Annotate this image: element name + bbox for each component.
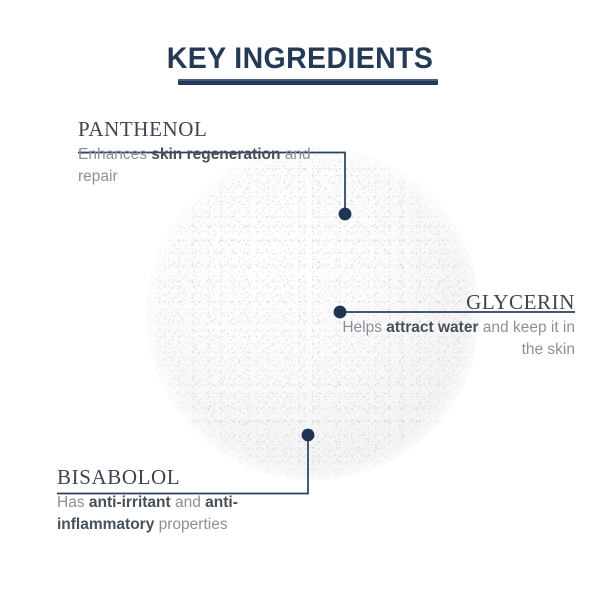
callout-text-emphasis: anti-irritant [89,494,171,511]
callout-title-glycerin: GLYCERIN [330,291,575,313]
callout-body-glycerin: Helps attract water and keep it in the s… [330,313,575,361]
callout-text-plain: Enhances [78,146,151,163]
callout-body-bisabolol: Has anti-irritant and anti-inflammatory … [57,488,308,536]
callout-text-emphasis: skin regeneration [151,146,280,163]
callout-text-plain: Helps [342,319,386,336]
callout-text-plain: and keep it in the skin [478,319,575,358]
infographic-canvas: KEY INGREDIENTS PANTHENOL Enhances skin … [0,0,600,600]
callout-title-panthenol: PANTHENOL [78,118,346,140]
callout-body-panthenol: Enhances skin regeneration and repair [78,140,346,188]
callout-text-plain: Has [57,494,89,511]
connector-dot-panthenol [339,208,352,221]
callout-text-plain: and [171,494,205,511]
callout-glycerin: GLYCERIN Helps attract water and keep it… [330,291,575,361]
callout-text-plain: properties [154,516,227,533]
callout-panthenol: PANTHENOL Enhances skin regeneration and… [78,118,346,188]
connector-dot-bisabolol [302,429,315,442]
callout-title-bisabolol: BISABOLOL [57,466,308,488]
callout-bisabolol: BISABOLOL Has anti-irritant and anti-inf… [57,466,308,536]
callout-text-emphasis: attract water [386,319,478,336]
